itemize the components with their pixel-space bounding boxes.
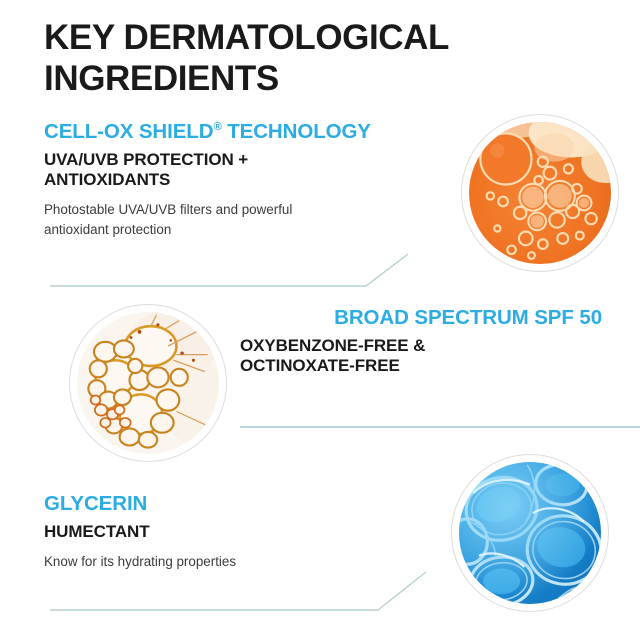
section-broad-spectrum-spf-50: BROAD SPECTRUM SPF 50 OXYBENZONE-FREE & … [240,306,602,376]
connector-line-broad-spectrum [238,424,640,430]
section-heading-text: CELL-OX SHIELD [44,120,213,143]
section-heading-text: BROAD SPECTRUM SPF 50 [334,306,602,329]
section-subheading-glycerin: HUMECTANT [44,522,444,542]
section-heading-text: GLYCERIN [44,492,147,515]
infographic-page: KEY DERMATOLOGICAL INGREDIENTS [0,0,640,640]
section-heading-suffix: TECHNOLOGY [222,120,371,143]
connector-line-glycerin [48,570,528,616]
section-body-cell-ox-shield: Photostable UVA/UVB filters and powerful… [44,200,464,242]
orange-oil-bubbles-swatch [469,122,611,264]
ingredient-image-amber-cellular-foam [70,305,226,461]
connector-line-cell-ox-shield [48,252,548,292]
section-subheading-cell-ox-shield: UVA/UVB PROTECTION + ANTIOXIDANTS [44,150,464,190]
registered-trademark-icon: ® [213,121,221,133]
section-cell-ox-shield: CELL-OX SHIELD® TECHNOLOGY UVA/UVB PROTE… [44,120,464,241]
section-heading-cell-ox-shield: CELL-OX SHIELD® TECHNOLOGY [44,120,464,145]
page-title: KEY DERMATOLOGICAL INGREDIENTS [44,18,564,100]
amber-cellular-foam-swatch [77,312,219,454]
section-subheading-broad-spectrum: OXYBENZONE-FREE & OCTINOXATE-FREE [240,336,602,376]
section-heading-glycerin: GLYCERIN [44,492,444,517]
ingredient-image-orange-oil-bubbles [462,115,618,271]
section-heading-broad-spectrum: BROAD SPECTRUM SPF 50 [240,306,602,331]
section-glycerin: GLYCERIN HUMECTANT Know for its hydratin… [44,492,444,572]
